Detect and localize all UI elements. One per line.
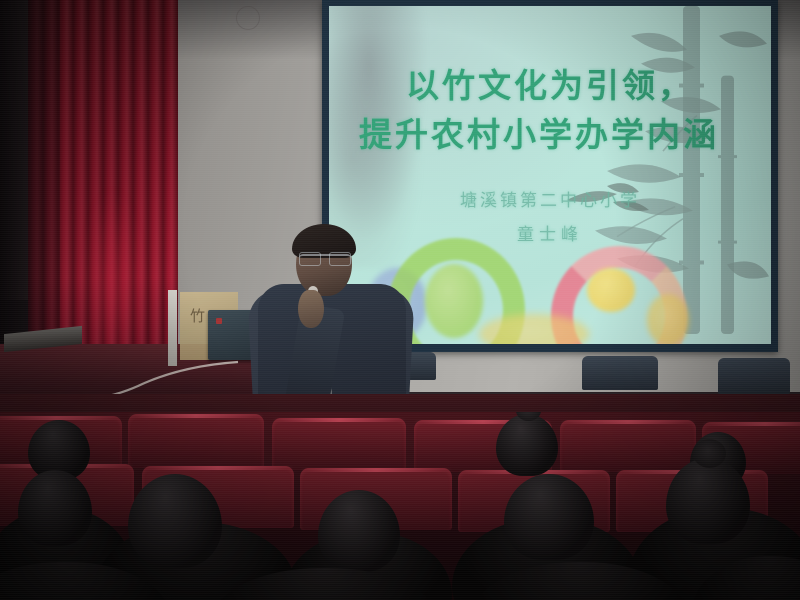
watercolor-blob-green — [425, 264, 483, 338]
audience-head — [128, 474, 222, 568]
banner-pole — [168, 290, 177, 366]
seat — [560, 420, 696, 472]
seat-highlight — [300, 468, 452, 472]
slide-organization: 塘溪镇第二中心小学 — [329, 186, 771, 211]
audience-head — [318, 490, 400, 572]
auditorium-photo: 以竹文化为引领， 提升农村小学办学内涵 塘溪镇第二中心小学 童士峰 竹 — [0, 0, 800, 600]
seat-highlight — [272, 418, 406, 422]
eyeglass-lens-left — [299, 252, 321, 266]
slide-title-line-1: 以竹文化为引领， — [329, 62, 771, 111]
presenter-hand — [298, 290, 324, 328]
eyeglass-lens-right — [329, 252, 351, 266]
seat-highlight — [702, 422, 800, 426]
slide-text-block: 以竹文化为引领， 提升农村小学办学内涵 塘溪镇第二中心小学 童士峰 — [329, 62, 771, 245]
seat — [128, 414, 264, 468]
slide-title-line-2: 提升农村小学办学内涵 — [329, 111, 771, 160]
audience-head — [18, 470, 92, 546]
wall-mark-icon — [236, 6, 260, 30]
stage-chair — [582, 356, 658, 390]
seat-highlight — [142, 466, 294, 470]
watercolor-blob-gold-right — [647, 294, 689, 344]
audience-head — [496, 414, 558, 476]
watercolor-blob-yellow — [587, 268, 635, 312]
audience-head — [504, 474, 594, 560]
seat-highlight — [560, 420, 696, 424]
laptop-logo-icon — [216, 318, 222, 324]
seat — [272, 418, 406, 470]
audience-head — [666, 458, 750, 544]
audience-area — [0, 412, 800, 600]
stage-chair — [718, 358, 790, 394]
seat-highlight — [128, 414, 264, 418]
